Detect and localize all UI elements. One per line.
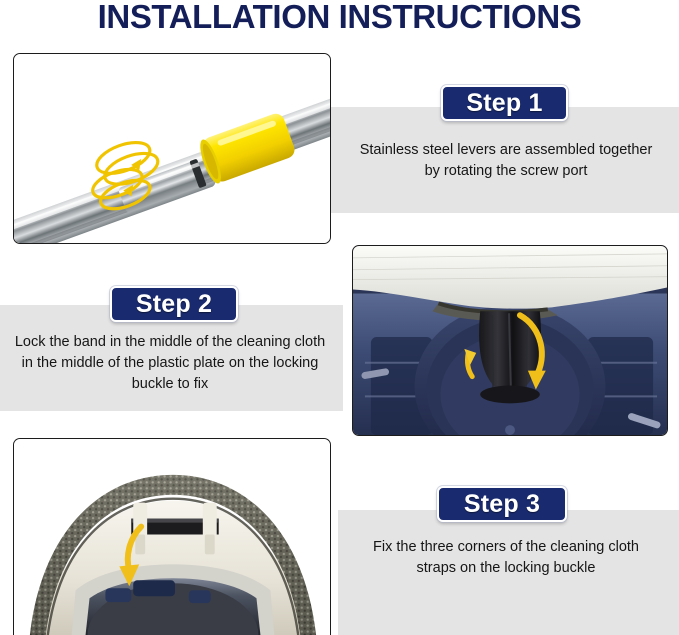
pole-assembly-illustration bbox=[14, 54, 330, 243]
step-2-photo bbox=[352, 245, 668, 436]
step-3-description: Fix the three corners of the cleaning cl… bbox=[352, 537, 660, 579]
page-title: INSTALLATION INSTRUCTIONS bbox=[0, 0, 679, 36]
mop-plate-buckle-illustration bbox=[353, 246, 667, 435]
step-1-badge: Step 1 bbox=[441, 85, 568, 121]
installation-instructions-infographic: INSTALLATION INSTRUCTIONS bbox=[0, 0, 679, 635]
step-1-description: Stainless steel levers are assembled tog… bbox=[352, 140, 660, 182]
step-1-photo bbox=[13, 53, 331, 244]
cloth-strap-over-buckle-illustration bbox=[14, 439, 330, 635]
step-2-badge: Step 2 bbox=[110, 286, 238, 322]
step-2-description: Lock the band in the middle of the clean… bbox=[12, 332, 328, 395]
step-3-badge: Step 3 bbox=[437, 486, 567, 522]
step-3-photo bbox=[13, 438, 331, 635]
